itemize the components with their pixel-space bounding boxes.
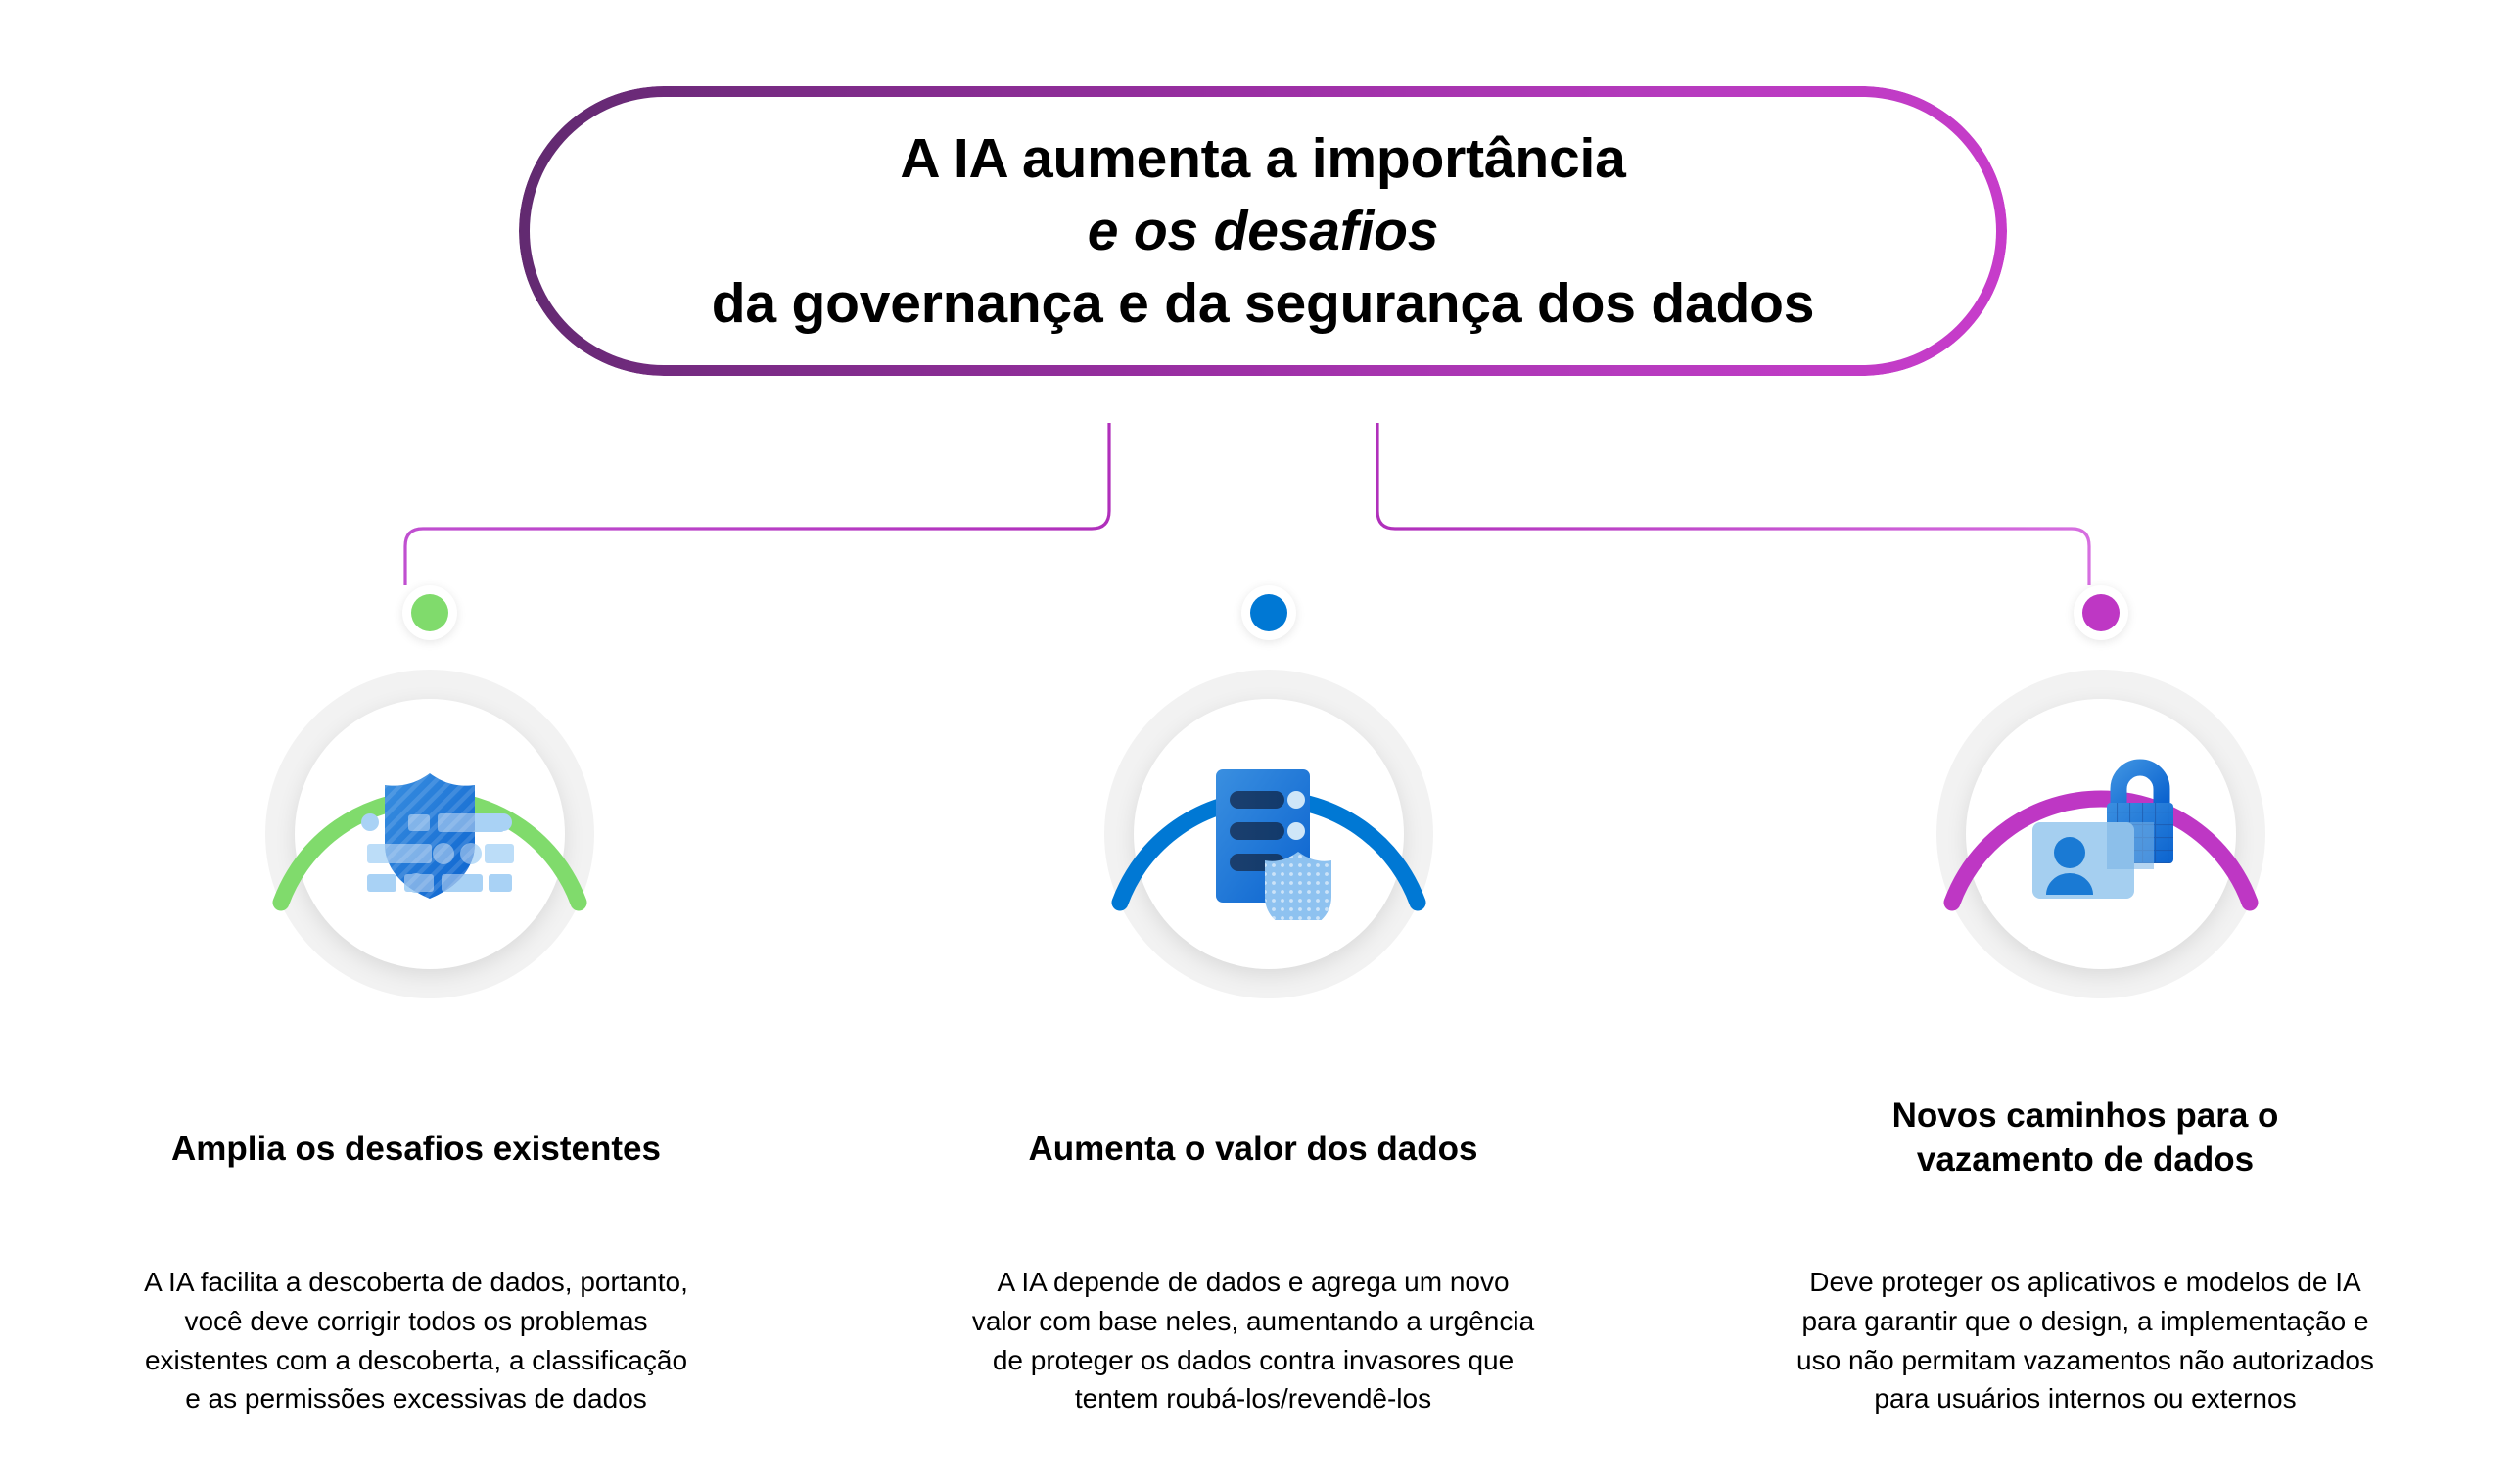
node-dot-fill-2: [1250, 594, 1287, 631]
title-line-1: A IA aumenta a importância: [712, 122, 1814, 195]
body-line: existentes com a descoberta, a classific…: [24, 1341, 808, 1380]
heading-line: vazamento de dados: [1694, 1138, 2477, 1183]
body-line: tentem roubá-los/revendê-los: [862, 1379, 1645, 1418]
title-line-3: da governança e da segurança dos dados: [712, 267, 1814, 340]
node-dot-fill-1: [411, 594, 448, 631]
body-line: para garantir que o design, a implementa…: [1694, 1302, 2477, 1341]
branch-node-dot-1: [402, 585, 457, 640]
heading-line: Novos caminhos para o: [1694, 1094, 2477, 1138]
body-line: você deve corrigir todos os problemas: [24, 1302, 808, 1341]
body-line: Deve proteger os aplicativos e modelos d…: [1694, 1263, 2477, 1302]
branch-heading-3: Novos caminhos para o vazamento de dados: [1694, 1094, 2477, 1183]
branch-body-2: A IA depende de dados e agrega um novo v…: [862, 1263, 1645, 1418]
connector-right: [1377, 423, 2089, 585]
shield-data-classification-icon: [344, 748, 516, 920]
main-title-box: A IA aumenta a importância e os desafios…: [519, 86, 2007, 376]
body-line: A IA facilita a descoberta de dados, por…: [24, 1263, 808, 1302]
document-shield-icon: [1183, 748, 1355, 920]
body-line: de proteger os dados contra invasores qu…: [862, 1341, 1645, 1380]
branch-body-3: Deve proteger os aplicativos e modelos d…: [1694, 1263, 2477, 1418]
branch-node-dot-3: [2074, 585, 2128, 640]
branch-heading-2: Aumenta o valor dos dados: [862, 1128, 1645, 1172]
body-line: A IA depende de dados e agrega um novo: [862, 1263, 1645, 1302]
icon-circle-2: [1093, 658, 1445, 1010]
connector-left: [405, 423, 1109, 585]
body-line: uso não permitam vazamentos não autoriza…: [1694, 1341, 2477, 1380]
branch-body-1: A IA facilita a descoberta de dados, por…: [24, 1263, 808, 1418]
icon-circle-3: [1925, 658, 2277, 1010]
title-line-2-emphasis: e os desafios: [712, 195, 1814, 267]
body-line: para usuários internos ou externos: [1694, 1379, 2477, 1418]
main-title-text: A IA aumenta a importância e os desafios…: [653, 122, 1873, 340]
diagram-canvas: A IA aumenta a importância e os desafios…: [0, 0, 2518, 1484]
branch-heading-1: Amplia os desafios existentes: [24, 1128, 808, 1172]
body-line: e as permissões excessivas de dados: [24, 1379, 808, 1418]
icon-circle-1: [254, 658, 606, 1010]
branch-node-dot-2: [1241, 585, 1296, 640]
identity-card-lock-icon: [2015, 748, 2187, 920]
body-line: valor com base neles, aumentando a urgên…: [862, 1302, 1645, 1341]
node-dot-fill-3: [2082, 594, 2120, 631]
